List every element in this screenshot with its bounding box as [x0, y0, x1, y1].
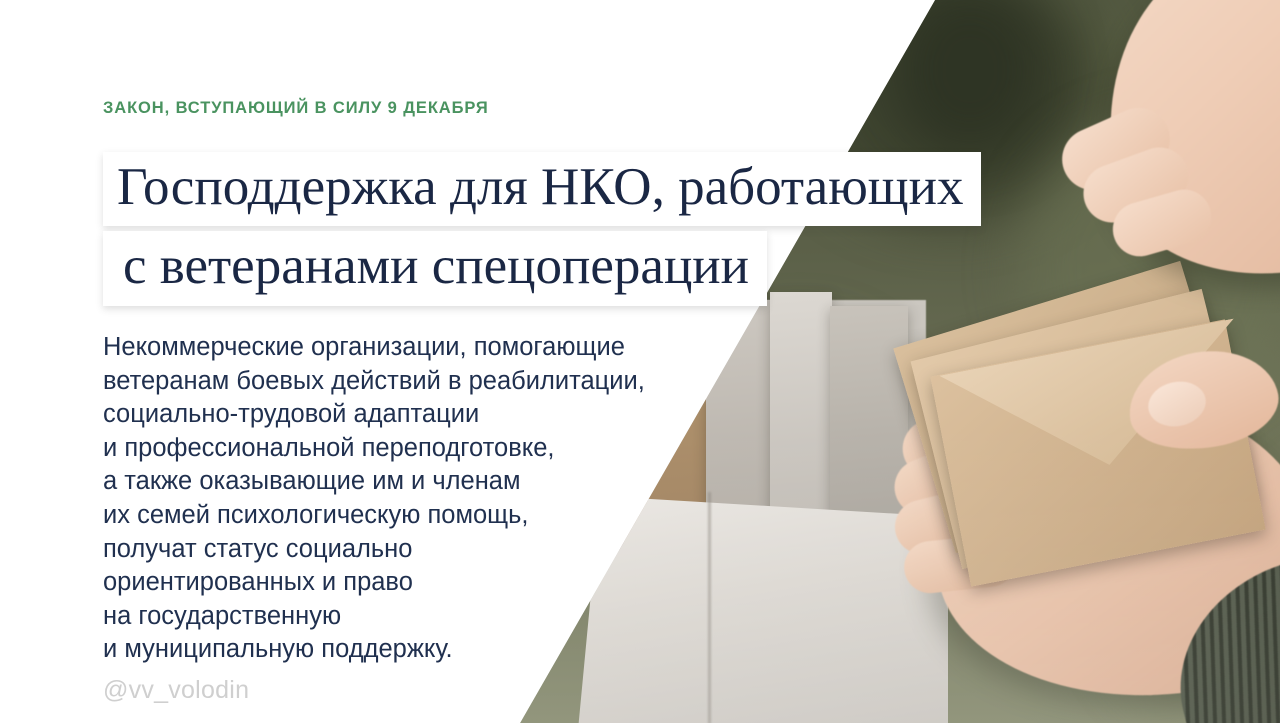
body-line: ветеранам боевых действий в реабилитации… [103, 365, 645, 399]
page-title: Господдержка для НКО, работающих с ветер… [103, 152, 981, 306]
headline-line-1: Господдержка для НКО, работающих [103, 152, 981, 226]
headline-line-2: с ветеранами спецоперации [103, 231, 767, 305]
body-line: и профессиональной переподготовке, [103, 432, 645, 466]
body-line: Некоммерческие организации, помогающие [103, 331, 645, 365]
body-line: ориентированных и право [103, 566, 645, 600]
body-line: социально-трудовой адаптации [103, 398, 645, 432]
account-handle-watermark: @vv_volodin [103, 676, 249, 705]
body-line: и муниципальную поддержку. [103, 633, 645, 667]
mail-bag-crease [708, 492, 711, 723]
body-paragraph: Некоммерческие организации, помогающие в… [103, 331, 645, 667]
body-line: а также оказывающие им и членам [103, 465, 645, 499]
eyebrow-label: ЗАКОН, ВСТУПАЮЩИЙ В СИЛУ 9 ДЕКАБРЯ [103, 99, 489, 118]
body-line: их семей психологическую помощь, [103, 499, 645, 533]
body-line: получат статус социально [103, 533, 645, 567]
body-line: на государственную [103, 600, 645, 634]
poster-card: ЗАКОН, ВСТУПАЮЩИЙ В СИЛУ 9 ДЕКАБРЯ Госпо… [0, 0, 1280, 723]
